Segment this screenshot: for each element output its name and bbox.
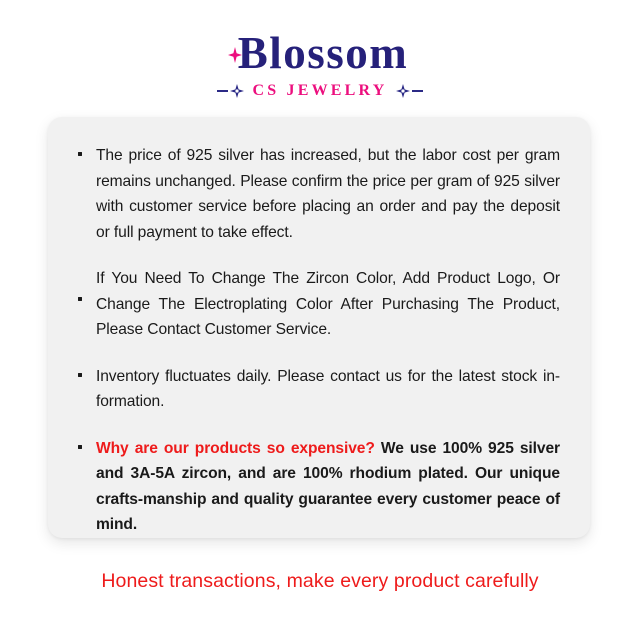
store-notice-page: Blossom CS JEWELRY (0, 0, 640, 640)
list-item-customization: If You Need To Change The Zircon Color, … (75, 266, 560, 343)
brand-tagline-row: CS JEWELRY (0, 82, 640, 100)
list-item-pricing-question: Why are our products so expensive? We us… (75, 436, 560, 538)
diamond-ornament-icon-right (395, 83, 423, 99)
notice-list: The price of 925 silver has increased, b… (75, 143, 560, 538)
bullet-icon (78, 152, 82, 156)
brand-header: Blossom CS JEWELRY (0, 30, 640, 100)
ornament-dash-left (217, 90, 228, 92)
bullet-icon (78, 373, 82, 377)
brand-tagline-text: CS JEWELRY (252, 82, 387, 100)
notice-card: The price of 925 silver has increased, b… (48, 117, 590, 538)
brand-name-text: Blossom (238, 28, 409, 78)
ornament-dash-right (412, 90, 423, 92)
footer-slogan: Honest transactions, make every product … (0, 570, 640, 593)
note-text: If You Need To Change The Zircon Color, … (96, 266, 560, 343)
note-text: Why are our products so expensive? We us… (96, 436, 560, 538)
bullet-icon (78, 297, 82, 301)
diamond-ornament-icon-left (217, 83, 245, 99)
list-item-inventory: Inventory fluctuates daily. Please conta… (75, 364, 560, 415)
bullet-icon (78, 445, 82, 449)
note-text: Inventory fluctuates daily. Please conta… (96, 364, 560, 415)
brand-name: Blossom (232, 30, 409, 77)
note-text: The price of 925 silver has increased, b… (96, 143, 560, 245)
note-highlight: Why are our products so expensive? (96, 440, 375, 457)
list-item-silver-price: The price of 925 silver has increased, b… (75, 143, 560, 245)
